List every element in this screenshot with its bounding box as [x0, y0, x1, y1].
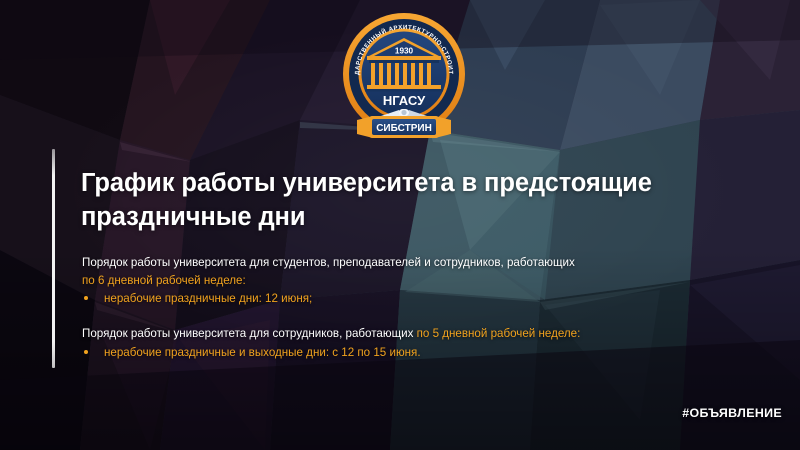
- list-item-label: нерабочие праздничные дни: 12 июня;: [104, 292, 312, 305]
- list-item-label: нерабочие праздничные и выходные дни: с …: [104, 346, 421, 359]
- paragraph-six-day-week: Порядок работы университета для студенто…: [82, 254, 702, 308]
- paragraph-lead-gold: по 5 дневной рабочей неделе:: [417, 327, 581, 340]
- list-item: нерабочие праздничные дни: 12 июня;: [82, 290, 702, 308]
- paragraph-lead-white: Порядок работы университета для сотрудни…: [82, 327, 417, 340]
- bullet-dot-icon: [84, 350, 88, 354]
- hashtag-label: #ОБЪЯВЛЕНИЕ: [682, 406, 782, 420]
- bullet-list-six-day: нерабочие праздничные дни: 12 июня;: [82, 290, 702, 308]
- paragraph-lead-white: Порядок работы университета для студенто…: [82, 256, 575, 269]
- body-content: Порядок работы университета для студенто…: [82, 254, 702, 362]
- announcement-slide: НОВОСИБИРСКИЙ ГОСУДАРСТВЕННЫЙ АРХИТЕКТУР…: [0, 0, 800, 450]
- page-title: График работы университета в предстоящие…: [81, 167, 681, 235]
- list-item: нерабочие праздничные и выходные дни: с …: [82, 344, 702, 362]
- accent-rule: [52, 149, 55, 368]
- university-logo: НОВОСИБИРСКИЙ ГОСУДАРСТВЕННЫЙ АРХИТЕКТУР…: [341, 4, 467, 146]
- paragraph-five-day-week: Порядок работы университета для сотрудни…: [82, 325, 702, 362]
- bullet-dot-icon: [84, 296, 88, 300]
- logo-ribbon-text: СИБСТРИН: [376, 123, 432, 134]
- paragraph-lead-gold: по 6 дневной рабочей неделе:: [82, 274, 246, 287]
- logo-year: 1930: [395, 47, 414, 56]
- bullet-list-five-day: нерабочие праздничные и выходные дни: с …: [82, 344, 702, 362]
- logo-abbreviation: НГАСУ: [383, 93, 426, 108]
